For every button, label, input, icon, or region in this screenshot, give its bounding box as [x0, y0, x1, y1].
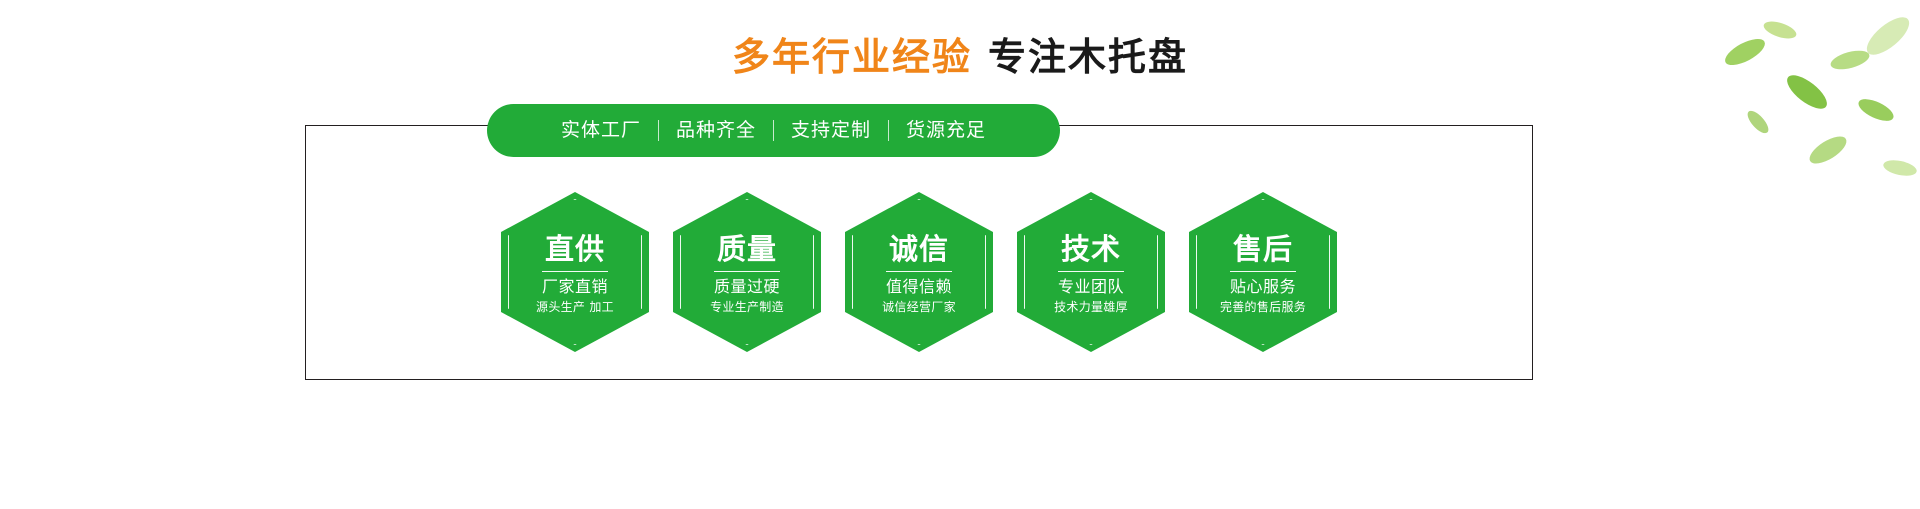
- hexagon-title: 质量: [717, 232, 777, 266]
- hexagon-content: 质量 质量过硬 专业生产制造: [673, 192, 821, 352]
- hexagon-rule: [886, 271, 952, 272]
- hexagon-title: 售后: [1233, 232, 1293, 266]
- feature-hexagon: 诚信 值得信赖 诚信经营厂家: [845, 192, 993, 352]
- hexagon-subtitle: 厂家直销: [542, 277, 608, 297]
- hexagon-content: 技术 专业团队 技术力量雄厚: [1017, 192, 1165, 352]
- feature-hexagon: 技术 专业团队 技术力量雄厚: [1017, 192, 1165, 352]
- hexagon-caption: 专业生产制造: [710, 299, 784, 315]
- badge-item-2: 品种齐全: [659, 104, 773, 157]
- hexagon-content: 售后 贴心服务 完善的售后服务: [1189, 192, 1337, 352]
- hexagon-title: 诚信: [889, 232, 949, 266]
- badge-item-1: 实体工厂: [544, 104, 658, 157]
- feature-hexagon: 质量 质量过硬 专业生产制造: [673, 192, 821, 352]
- badge-item-4: 货源充足: [889, 104, 1003, 157]
- page-title: 多年行业经验专注木托盘: [0, 34, 1920, 80]
- feature-badge-bar: 实体工厂 品种齐全 支持定制 货源充足: [487, 104, 1060, 157]
- hexagon-subtitle: 贴心服务: [1230, 277, 1296, 297]
- badge-item-3: 支持定制: [774, 104, 888, 157]
- hexagon-caption: 诚信经营厂家: [882, 299, 956, 315]
- hexagon-rule: [1058, 271, 1124, 272]
- feature-hexagon-row: 直供 厂家直销 源头生产 加工 质量 质量过硬 专业生产制造 诚信 值得信赖: [305, 192, 1533, 352]
- hexagon-caption: 完善的售后服务: [1220, 299, 1306, 315]
- promo-banner: 多年行业经验专注木托盘 实体工厂 品种齐全 支持定制 货源充足 直供 厂家直销 …: [0, 0, 1920, 509]
- title-rest: 专注木托盘: [988, 35, 1188, 79]
- hexagon-title: 技术: [1061, 232, 1121, 266]
- hexagon-subtitle: 值得信赖: [886, 277, 952, 297]
- feature-hexagon: 直供 厂家直销 源头生产 加工: [501, 192, 649, 352]
- hexagon-content: 诚信 值得信赖 诚信经营厂家: [845, 192, 993, 352]
- hexagon-caption: 源头生产 加工: [536, 299, 614, 315]
- hexagon-caption: 技术力量雄厚: [1054, 299, 1128, 315]
- hexagon-rule: [542, 271, 608, 272]
- hexagon-content: 直供 厂家直销 源头生产 加工: [501, 192, 649, 352]
- hexagon-rule: [714, 271, 780, 272]
- feature-hexagon: 售后 贴心服务 完善的售后服务: [1189, 192, 1337, 352]
- hexagon-title: 直供: [545, 232, 605, 266]
- hexagon-subtitle: 专业团队: [1058, 277, 1124, 297]
- hexagon-subtitle: 质量过硬: [714, 277, 780, 297]
- title-highlight: 多年行业经验: [732, 35, 972, 79]
- hexagon-rule: [1230, 271, 1296, 272]
